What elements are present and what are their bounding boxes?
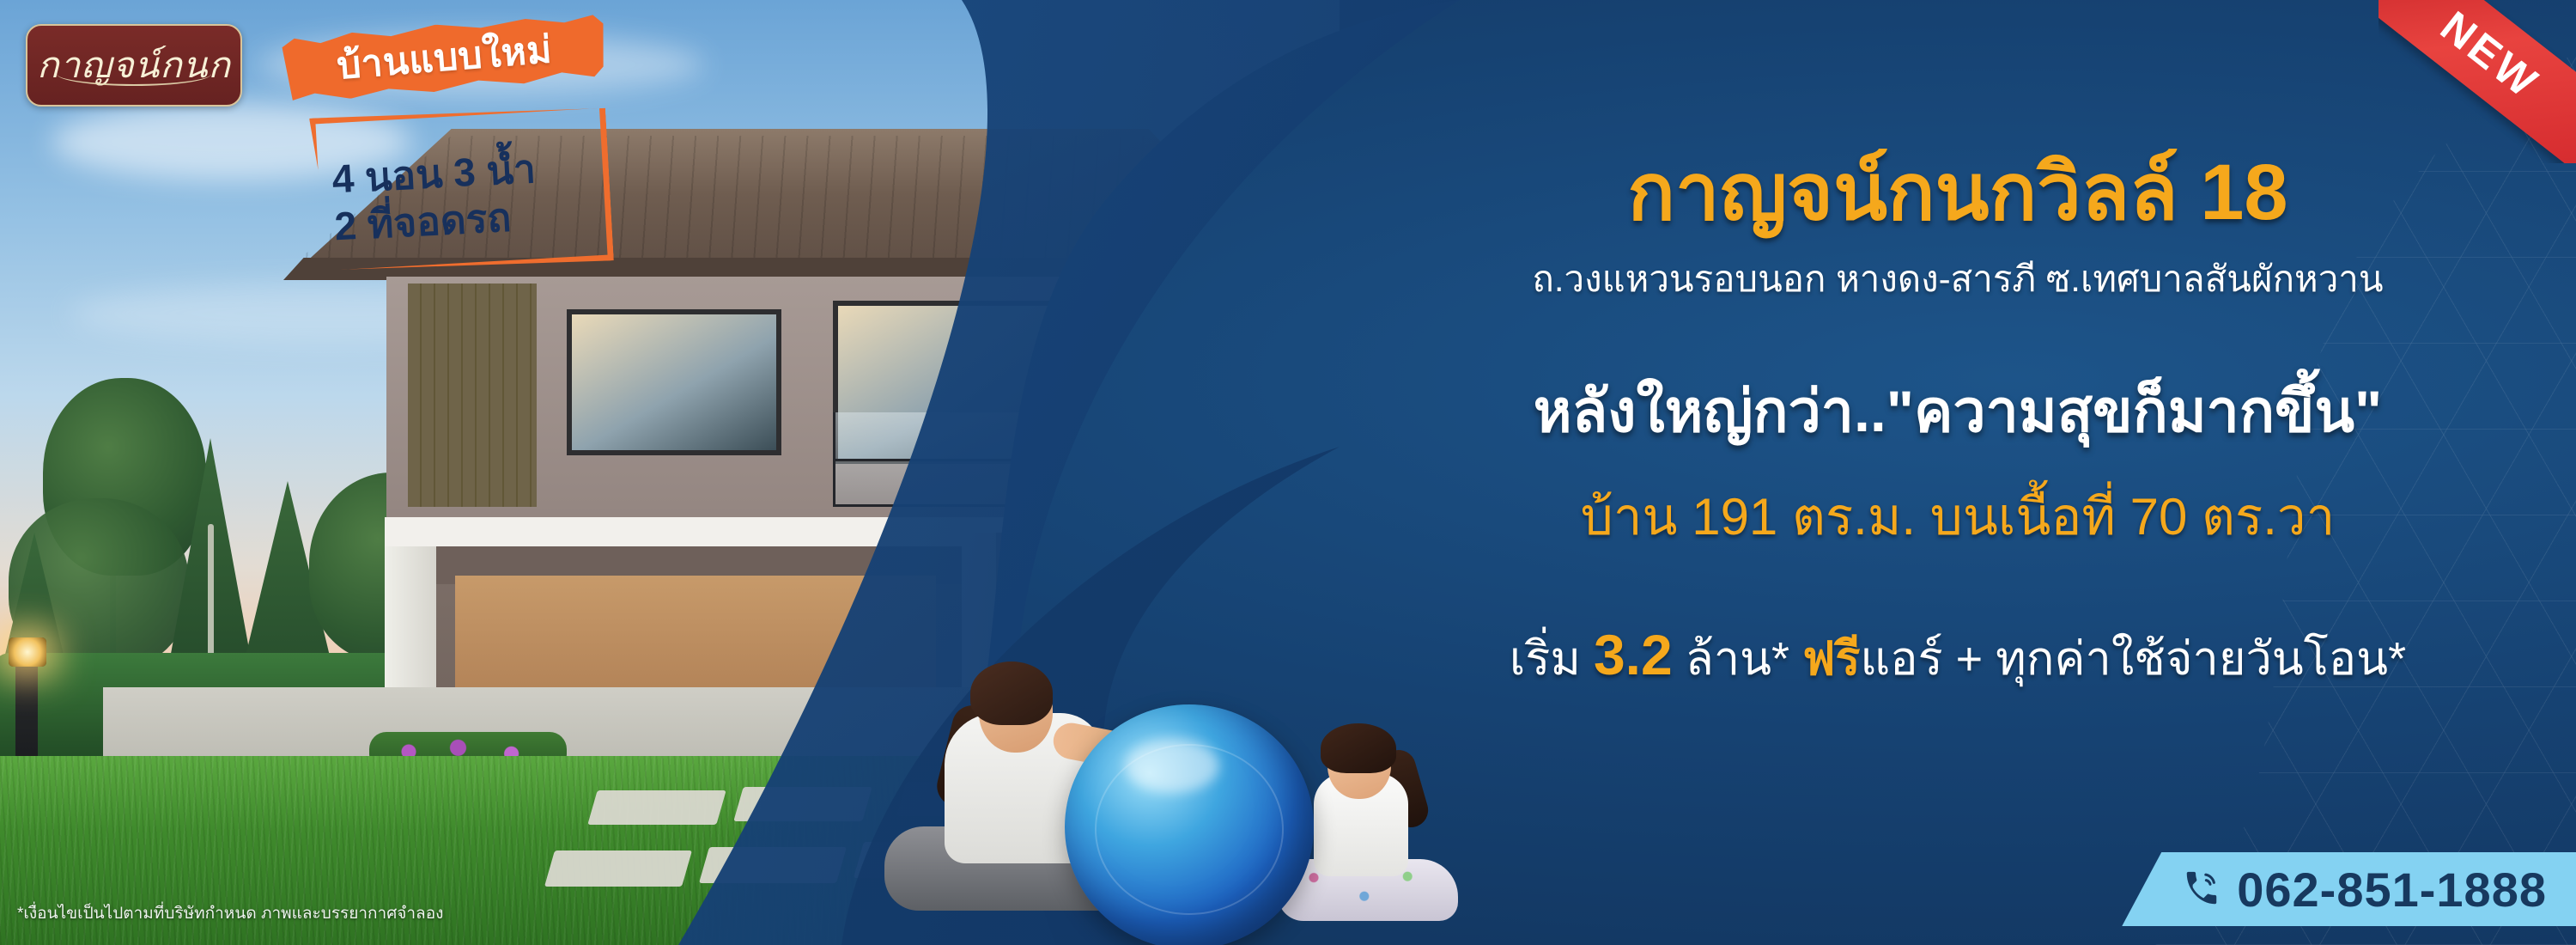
paving-slab xyxy=(699,847,847,883)
area-specification: บ้าน 191 ตร.ม. บนเนื้อที่ 70 ตร.วา xyxy=(1581,476,2336,558)
phone-number: 062-851-1888 xyxy=(2237,862,2547,918)
price-offer: แอร์ + ทุกค่าใช้จ่ายวันโอน* xyxy=(1860,633,2406,685)
window xyxy=(1108,301,1245,464)
wood-panel xyxy=(408,283,537,507)
balcony-railing xyxy=(833,412,1091,507)
lamp-light xyxy=(9,637,46,667)
mother-hair xyxy=(970,661,1053,725)
paving-slab xyxy=(544,850,692,887)
phone-ringing-icon xyxy=(2182,869,2221,909)
phone-contact-badge[interactable]: 062-851-1888 xyxy=(2122,852,2576,926)
window xyxy=(567,309,781,455)
price-prefix: เริ่ม xyxy=(1510,633,1581,685)
price-line: เริ่ม 3.2 ล้าน* ฟรีแอร์ + ทุกค่าใช้จ่ายว… xyxy=(1510,621,2406,695)
main-text-block: กาญจน์กนกวิลล์ 18 ถ.วงแหวนรอบนอก หางดง-ส… xyxy=(1340,0,2576,945)
feature-list: 4 นอน 3 น้ำ 2 ที่จอดรถ xyxy=(330,120,611,272)
ball-highlight xyxy=(1125,739,1219,793)
exercise-ball xyxy=(1065,704,1314,945)
page-title: กาญจน์กนกวิลล์ 18 xyxy=(1627,153,2287,232)
company-logo[interactable]: กาญจน์กนก xyxy=(26,24,242,107)
paving-slab xyxy=(587,790,726,825)
price-unit: ล้าน* xyxy=(1686,633,1789,685)
promotional-banner: กาญจน์กนก บ้านแบบใหม่ 4 นอน 3 น้ำ 2 ที่จ… xyxy=(0,0,2576,945)
marketing-tagline: หลังใหญ่กว่า.."ความสุขก็มากขึ้น" xyxy=(1534,364,2382,457)
project-address: ถ.วงแหวนรอบนอก หางดง-สารภี ซ.เทศบาลสันผั… xyxy=(1532,251,2383,308)
disclaimer-text: *เงื่อนไขเป็นไปตามที่บริษัทกำหนด ภาพและบ… xyxy=(17,900,443,926)
price-amount: 3.2 xyxy=(1594,623,1673,686)
free-label: ฟรี xyxy=(1802,633,1860,685)
